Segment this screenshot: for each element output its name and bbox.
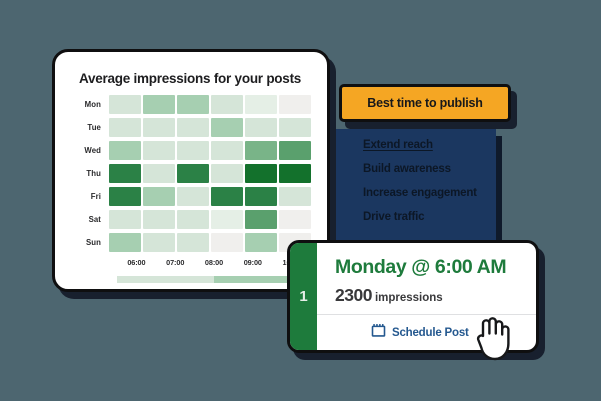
heatmap-cell[interactable] [143, 187, 175, 206]
chart-title: Average impressions for your posts [79, 71, 301, 86]
heatmap-day-label: Fri [79, 192, 109, 201]
heatmap-cell[interactable] [109, 95, 141, 114]
best-time-suggestion-card: 1 Monday @ 6:00 AM 2300impressions [287, 240, 539, 353]
heatmap-cell[interactable] [211, 164, 243, 183]
suggestion-metric: 2300impressions [335, 285, 443, 306]
heatmap-row-fri: Fri [79, 186, 311, 207]
heatmap-cell[interactable] [245, 187, 277, 206]
heatmap-legend-bar [117, 276, 311, 283]
heatmap-day-label: Sun [79, 238, 109, 247]
heatmap-row-tue: Tue [79, 117, 311, 138]
heatmap-row-cells [109, 233, 311, 252]
heatmap-x-tick: 09:00 [233, 258, 272, 267]
chart-title-part-3: for your posts [210, 71, 301, 86]
heatmap-row-cells [109, 95, 311, 114]
heatmap-row-cells [109, 118, 311, 137]
schedule-post-action[interactable]: Schedule Post [371, 323, 469, 343]
heatmap-row-cells [109, 210, 311, 229]
heatmap-cell[interactable] [279, 118, 311, 137]
heatmap-cell[interactable] [177, 95, 209, 114]
heatmap-cell[interactable] [109, 210, 141, 229]
rank-badge-number: 1 [299, 288, 307, 305]
heatmap-day-label: Sat [79, 215, 109, 224]
heatmap-x-tick: 06:00 [117, 258, 156, 267]
legend-range-label: 460-920 [117, 287, 214, 292]
heatmap-cell[interactable] [143, 164, 175, 183]
heatmap-cell[interactable] [211, 141, 243, 160]
heatmap-row-cells [109, 187, 311, 206]
goal-item-drive-traffic[interactable]: Drive traffic [363, 211, 424, 223]
heatmap-cell[interactable] [177, 187, 209, 206]
heatmap-cell[interactable] [109, 141, 141, 160]
heatmap-grid: MonTueWedThuFriSatSun [79, 94, 311, 255]
heatmap-cell[interactable] [177, 233, 209, 252]
heatmap-cell[interactable] [279, 141, 311, 160]
heatmap-x-axis: 06:0007:0008:0009:0010:00 [117, 258, 311, 267]
heatmap-cell[interactable] [143, 118, 175, 137]
heatmap-cell[interactable] [143, 95, 175, 114]
rank-badge: 1 [290, 243, 317, 350]
heatmap-cell[interactable] [177, 118, 209, 137]
impressions-value: 2300 [335, 285, 372, 305]
heatmap-cell[interactable] [109, 233, 141, 252]
impressions-unit: impressions [375, 292, 443, 304]
heatmap-cell[interactable] [211, 118, 243, 137]
schedule-post-label: Schedule Post [392, 327, 469, 339]
heatmap-cell[interactable] [211, 95, 243, 114]
heatmap-cell[interactable] [245, 164, 277, 183]
heatmap-cell[interactable] [143, 233, 175, 252]
suggestion-headline: Monday @ 6:00 AM [335, 256, 506, 279]
heatmap-cell[interactable] [211, 187, 243, 206]
heatmap-cell[interactable] [245, 118, 277, 137]
heatmap-day-label: Thu [79, 169, 109, 178]
heatmap-cell[interactable] [109, 187, 141, 206]
heatmap-row-cells [109, 164, 311, 183]
chart-title-part-2: impressions [134, 71, 211, 86]
goal-item-extend-reach[interactable]: Extend reach [363, 139, 433, 151]
heatmap-cell[interactable] [245, 233, 277, 252]
heatmap-row-thu: Thu [79, 163, 311, 184]
best-time-button-label: Best time to publish [367, 96, 482, 110]
heatmap-cell[interactable] [279, 164, 311, 183]
heatmap-day-label: Tue [79, 123, 109, 132]
goal-item-build-awareness[interactable]: Build awareness [363, 163, 451, 175]
heatmap-cell[interactable] [279, 95, 311, 114]
chart-title-part-1: Average [79, 71, 134, 86]
calendar-icon [371, 323, 386, 343]
heatmap-row-sun: Sun [79, 232, 311, 253]
heatmap-cell[interactable] [245, 210, 277, 229]
heatmap-cell[interactable] [143, 141, 175, 160]
heatmap-legend-labels: 460-920920-1380 [117, 287, 311, 292]
heatmap-cell[interactable] [143, 210, 175, 229]
best-time-to-publish-button[interactable]: Best time to publish [339, 84, 511, 122]
heatmap-cell[interactable] [245, 95, 277, 114]
heatmap-cell[interactable] [279, 187, 311, 206]
heatmap-cell[interactable] [211, 233, 243, 252]
heatmap-cell[interactable] [211, 210, 243, 229]
heatmap-row-sat: Sat [79, 209, 311, 230]
heatmap-cell[interactable] [109, 118, 141, 137]
heatmap-cell[interactable] [177, 141, 209, 160]
heatmap-cell[interactable] [177, 210, 209, 229]
legend-color-segment [117, 276, 214, 283]
heatmap-x-tick: 07:00 [156, 258, 195, 267]
heatmap-row-cells [109, 141, 311, 160]
heatmap-cell[interactable] [109, 164, 141, 183]
goal-item-increase-engagement[interactable]: Increase engagement [363, 187, 477, 199]
heatmap-row-wed: Wed [79, 140, 311, 161]
heatmap-cell[interactable] [279, 210, 311, 229]
suggestion-card-body: Monday @ 6:00 AM 2300impressions Schedul… [317, 243, 536, 350]
screenshot-stage: Average impressions for your posts MonTu… [0, 0, 601, 401]
heatmap-row-mon: Mon [79, 94, 311, 115]
heatmap-day-label: Mon [79, 100, 109, 109]
heatmap-cell[interactable] [245, 141, 277, 160]
heatmap-day-label: Wed [79, 146, 109, 155]
heatmap-x-tick: 08:00 [195, 258, 234, 267]
heatmap-cell[interactable] [177, 164, 209, 183]
card-divider [317, 314, 536, 315]
